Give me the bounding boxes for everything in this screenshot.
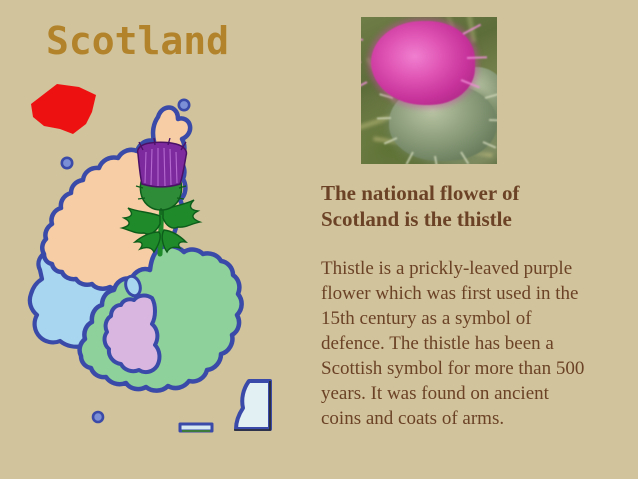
thistle-photo <box>361 17 497 164</box>
map-inset-corner-frame <box>234 381 270 430</box>
map-region-ireland <box>30 245 148 347</box>
map-island-isle-of-man <box>123 274 142 297</box>
map-region-england <box>80 246 242 391</box>
map-island-dot-scilly <box>93 412 103 422</box>
map-inset-corner <box>236 381 270 429</box>
thistle-leaf-left <box>122 208 160 234</box>
thistle-leaf-lower-left <box>135 232 160 252</box>
photo-thistle-flower-head <box>371 21 475 105</box>
map-island-dot-orkney <box>179 100 189 110</box>
thistle-leaf-lower-right <box>162 230 186 252</box>
page-title: Scotland <box>46 22 229 60</box>
map-island-dot-hebrides <box>62 158 72 168</box>
drawn-thistle-illustration <box>110 138 215 258</box>
red-marker-icon <box>31 84 96 134</box>
map-region-wales <box>105 296 160 373</box>
presentation-slide: Scotland <box>0 0 638 479</box>
map-island-channel <box>180 424 212 431</box>
flower-heading: The national flower of Scotland is the t… <box>321 180 583 232</box>
flower-body-text: Thistle is a prickly-leaved purple flowe… <box>321 256 589 431</box>
